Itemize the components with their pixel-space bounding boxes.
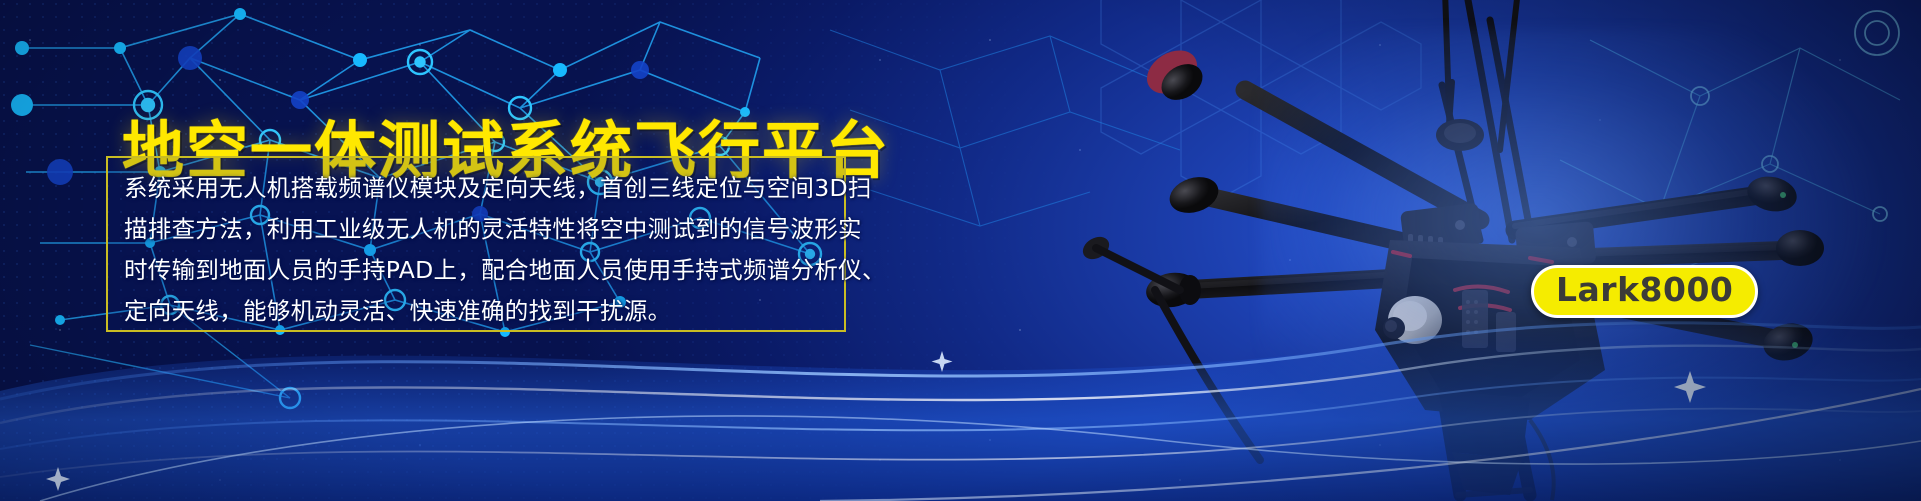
description-box: 系统采用无人机搭载频谱仪模块及定向天线，首创三线定位与空间3D扫 描排查方法，利… [106,156,846,332]
description-line-3: 时传输到地面人员的手持PAD上，配合地面人员使用手持式频谱分析仪、 [124,250,828,291]
product-model-badge: Lark8000 [1531,265,1758,318]
description-line-1: 系统采用无人机搭载频谱仪模块及定向天线，首创三线定位与空间3D扫 [124,168,828,209]
description-line-2: 描排查方法，利用工业级无人机的灵活特性将空中测试到的信号波形实 [124,209,828,250]
promo-banner: 地空一体测试系统飞行平台 系统采用无人机搭载频谱仪模块及定向天线，首创三线定位与… [0,0,1921,501]
description-line-4: 定向天线，能够机动灵活、快速准确的找到干扰源。 [124,291,828,332]
